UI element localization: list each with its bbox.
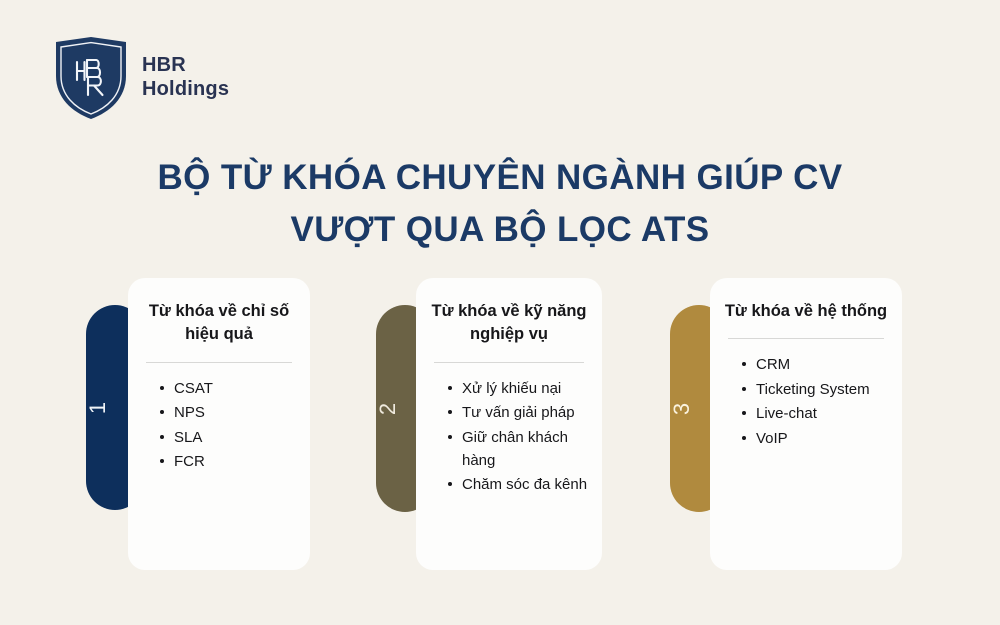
shield-icon bbox=[54, 36, 128, 120]
card-heading-3: Từ khóa về hệ thống bbox=[724, 300, 888, 323]
card-panel-2: Từ khóa về kỹ năng nghiệp vụ Xử lý khiếu… bbox=[416, 278, 602, 570]
list-item: CRM bbox=[742, 353, 888, 376]
list-item: Tư vấn giải pháp bbox=[448, 401, 588, 424]
list-item: VoIP bbox=[742, 427, 888, 450]
card-divider-1 bbox=[146, 362, 292, 363]
list-item: Xử lý khiếu nại bbox=[448, 377, 588, 400]
brand-name: HBR Holdings bbox=[142, 54, 229, 101]
keyword-card-2: 2 Từ khóa về kỹ năng nghiệp vụ Xử lý khi… bbox=[376, 278, 602, 578]
card-number-3: 3 bbox=[671, 402, 693, 414]
page-title-line2: VƯỢT QUA BỘ LỌC ATS bbox=[0, 204, 1000, 256]
card-panel-3: Từ khóa về hệ thống CRM Ticketing System… bbox=[710, 278, 902, 570]
list-item: SLA bbox=[160, 426, 296, 449]
card-list-3: CRM Ticketing System Live-chat VoIP bbox=[724, 353, 888, 450]
card-panel-1: Từ khóa về chỉ số hiệu quả CSAT NPS SLA … bbox=[128, 278, 310, 570]
card-list-1: CSAT NPS SLA FCR bbox=[142, 377, 296, 474]
card-divider-2 bbox=[434, 362, 584, 363]
list-item: Ticketing System bbox=[742, 378, 888, 401]
card-number-2: 2 bbox=[377, 402, 399, 414]
card-divider-3 bbox=[728, 338, 884, 339]
card-number-1: 1 bbox=[87, 401, 109, 413]
list-item: Giữ chân khách hàng bbox=[448, 426, 588, 473]
keyword-card-row: 1 Từ khóa về chỉ số hiệu quả CSAT NPS SL… bbox=[0, 278, 1000, 578]
card-heading-1: Từ khóa về chỉ số hiệu quả bbox=[142, 300, 296, 347]
brand-name-line1: HBR bbox=[142, 54, 229, 78]
card-list-2: Xử lý khiếu nại Tư vấn giải pháp Giữ châ… bbox=[430, 377, 588, 497]
brand-logo: HBR Holdings bbox=[54, 36, 229, 120]
page-title-line1: BỘ TỪ KHÓA CHUYÊN NGÀNH GIÚP CV bbox=[0, 152, 1000, 204]
card-heading-2: Từ khóa về kỹ năng nghiệp vụ bbox=[430, 300, 588, 347]
keyword-card-3: 3 Từ khóa về hệ thống CRM Ticketing Syst… bbox=[670, 278, 902, 578]
list-item: CSAT bbox=[160, 377, 296, 400]
keyword-card-1: 1 Từ khóa về chỉ số hiệu quả CSAT NPS SL… bbox=[86, 278, 310, 578]
infographic-canvas: HBR Holdings BỘ TỪ KHÓA CHUYÊN NGÀNH GIÚ… bbox=[0, 0, 1000, 625]
list-item: FCR bbox=[160, 450, 296, 473]
list-item: Chăm sóc đa kênh bbox=[448, 473, 588, 496]
list-item: NPS bbox=[160, 401, 296, 424]
page-title: BỘ TỪ KHÓA CHUYÊN NGÀNH GIÚP CV VƯỢT QUA… bbox=[0, 152, 1000, 256]
list-item: Live-chat bbox=[742, 402, 888, 425]
brand-name-line2: Holdings bbox=[142, 78, 229, 102]
